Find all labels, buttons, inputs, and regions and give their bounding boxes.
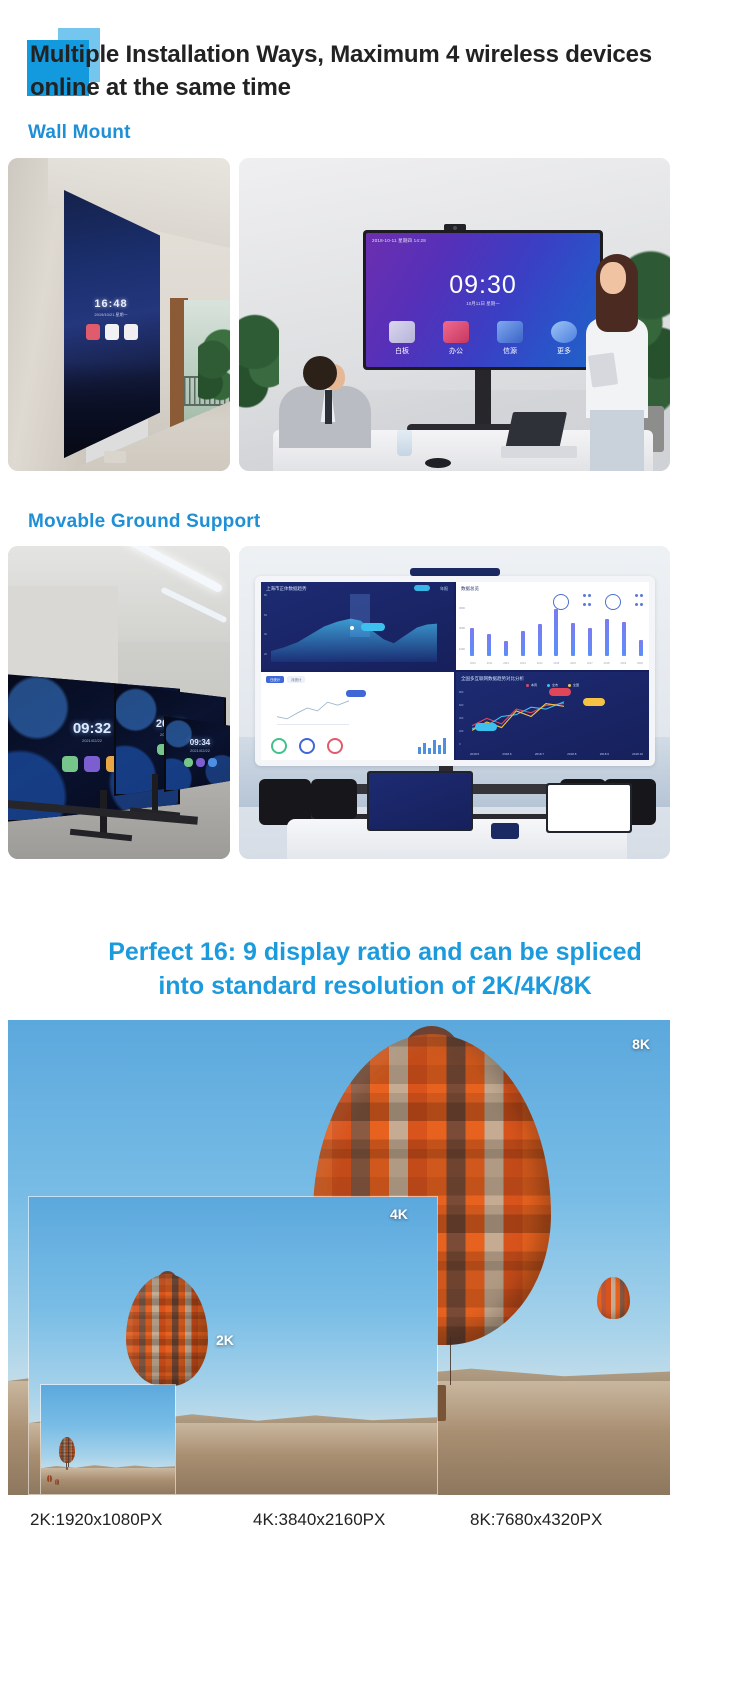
display-app-row xyxy=(164,758,230,767)
bar-series xyxy=(470,601,643,656)
data-tooltip-cyan xyxy=(475,723,497,731)
chart-x-axis: 2010 2011 2012 2013 2014 2015 2016 2017 … xyxy=(470,662,643,665)
axis-tick: 800 xyxy=(459,691,463,694)
seated-person-tie xyxy=(325,390,332,424)
axis-tick: 2018.5 xyxy=(470,752,479,756)
data-tooltip xyxy=(361,623,385,631)
chart-bar-overview: 数据总览 3000 2000 1000 xyxy=(456,582,649,670)
chart-multiline-comparison: 全国多互联网数据趋势对比分析 本周 全市 全国 800 600 400 200 … xyxy=(456,672,649,760)
resolution-label-8k: 8K xyxy=(632,1036,650,1052)
display-app-icon xyxy=(86,324,100,340)
axis-tick: 0 xyxy=(459,743,463,746)
screen-app-more: 更多 xyxy=(549,321,579,356)
axis-tick: 2018.10 xyxy=(632,752,643,756)
axis-tick: 2018.6 xyxy=(502,752,511,756)
promo-page: Multiple Installation Ways, Maximum 4 wi… xyxy=(0,0,750,1694)
line-series xyxy=(277,695,349,725)
app-icon xyxy=(84,756,100,772)
pane-2k-content xyxy=(40,1384,175,1495)
chart-title: 全国多互联网数据趋势对比分析 xyxy=(461,676,524,682)
chart-tab-group[interactable]: 日统计 月统计 xyxy=(266,676,305,683)
axis-tick: 2015 xyxy=(553,662,559,665)
axis-tick: 2000 xyxy=(459,627,465,630)
resolution-comparison-image: 8K xyxy=(8,1020,670,1495)
display-app-icon xyxy=(105,324,119,340)
section-label-movable-ground-support: Movable Ground Support xyxy=(28,511,260,533)
chart-y-axis: 80 60 40 20 xyxy=(264,594,267,656)
dashboard-screen: 上海市正体数据趋势 年报 80 60 40 20 数据 xyxy=(261,582,649,760)
axis-tick: 2020 xyxy=(637,662,643,665)
axis-tick: 2013 xyxy=(520,662,526,665)
app-icon xyxy=(62,756,78,772)
legend-item: 本周 xyxy=(526,683,537,687)
wallpaper-mountain xyxy=(68,398,158,444)
display-date: 2021/02/22 xyxy=(164,748,230,753)
section-label-wall-mount: Wall Mount xyxy=(28,122,131,144)
resolution-label-2k: 2K xyxy=(216,1332,234,1348)
distant-balloon xyxy=(55,1479,59,1485)
chart-line-monthly: 日统计 月统计 xyxy=(261,672,454,760)
axis-tick: 2010 xyxy=(470,662,476,665)
chart-x-axis: 2018.5 2018.6 2018.7 2018.8 2018.9 2018.… xyxy=(470,752,643,756)
ring-gauge-icon xyxy=(299,738,315,754)
whiteboard-icon xyxy=(389,321,415,343)
connected-laptop xyxy=(367,771,473,831)
legend-item: 全国 xyxy=(568,683,579,687)
chart-y-axis: 3000 2000 1000 xyxy=(459,607,465,651)
axis-tick: 20 xyxy=(264,653,267,656)
ring-gauge-icon xyxy=(327,738,343,754)
hallway-wall-plate xyxy=(104,451,126,463)
chart-title: 数据总览 xyxy=(461,586,479,592)
chart-badge-label: 年报 xyxy=(440,586,448,592)
data-tooltip xyxy=(346,690,366,697)
axis-tick: 80 xyxy=(264,594,267,597)
mobile-display-3: 09:34 2021/02/22 xyxy=(164,716,230,792)
data-tooltip-red xyxy=(549,688,571,696)
screen-clock: 09:30 xyxy=(366,271,600,300)
photo-dashboard-conference: 上海市正体数据趋势 年报 80 60 40 20 数据 xyxy=(239,546,670,859)
axis-tick: 2018 xyxy=(604,662,610,665)
app-icon xyxy=(196,758,205,767)
laptop-screen xyxy=(505,412,567,450)
caption-2k: 2K:1920x1080PX xyxy=(30,1510,162,1530)
water-glass xyxy=(397,430,412,456)
axis-tick: 40 xyxy=(264,633,267,636)
axis-tick: 2014 xyxy=(537,662,543,665)
display-stand-pole xyxy=(475,370,491,426)
wallpaper-city-glow xyxy=(98,428,132,438)
axis-tick: 2018.8 xyxy=(567,752,576,756)
display-screen: 2018-10-11 星期四 14:28 09:30 10月11日 星期一 白板… xyxy=(366,233,600,367)
hot-air-balloon-2k xyxy=(59,1437,75,1470)
page-title: Multiple Installation Ways, Maximum 4 wi… xyxy=(30,38,690,104)
screen-app-whiteboard: 白板 xyxy=(387,321,417,356)
area-series xyxy=(271,613,437,662)
resolution-pane-2k xyxy=(40,1384,175,1495)
display-camera-bar xyxy=(410,568,500,576)
tab-monthly[interactable]: 月统计 xyxy=(287,676,305,683)
screen-clock-sub: 10月11日 星期一 xyxy=(366,301,600,307)
chart-toggle-badge xyxy=(414,585,430,591)
office-icon xyxy=(443,321,469,343)
distant-balloon xyxy=(47,1475,52,1482)
balloon-envelope xyxy=(126,1274,208,1386)
standing-person-skirt xyxy=(590,410,644,471)
axis-tick: 200 xyxy=(459,730,463,733)
balloon-basket xyxy=(66,1467,68,1470)
display-app-icon xyxy=(124,324,138,340)
axis-tick: 2018.9 xyxy=(600,752,609,756)
app-icon xyxy=(184,758,193,767)
photo-wall-mount-hallway: 16:48 2019/10/21 星期一 xyxy=(8,158,230,471)
chart-legend: 本周 全市 全国 xyxy=(456,683,649,687)
resolution-heading-line1: Perfect 16: 9 display ratio and can be s… xyxy=(40,935,710,969)
standing-person-tablet xyxy=(588,352,618,387)
ring-gauge-icon xyxy=(271,738,287,754)
display-screen xyxy=(166,718,230,790)
axis-tick: 1000 xyxy=(459,648,465,651)
axis-tick: 2019 xyxy=(620,662,626,665)
laptop-keyboard xyxy=(501,446,577,458)
screen-date: 2018-10-11 星期四 14:28 xyxy=(372,238,426,244)
axis-tick: 2017 xyxy=(587,662,593,665)
photo-wall-mount-meeting-room: 2018-10-11 星期四 14:28 09:30 10月11日 星期一 白板… xyxy=(239,158,670,471)
balloon-envelope xyxy=(59,1437,75,1463)
seated-person-hair xyxy=(303,356,337,390)
app-icon xyxy=(208,758,217,767)
screen-app-row: 白板 办公 信源 更多 xyxy=(366,321,600,356)
resolution-captions: 2K:1920x1080PX 4K:3840x2160PX 8K:7680x43… xyxy=(8,1500,670,1540)
screen-app-label: 白板 xyxy=(387,346,417,356)
kpi-ring-group xyxy=(271,738,343,754)
chart-area-trend: 上海市正体数据趋势 年报 80 60 40 20 xyxy=(261,582,454,670)
meeting-room-plant-left xyxy=(239,306,279,426)
axis-tick: 3000 xyxy=(459,607,465,610)
screen-app-source: 信源 xyxy=(495,321,525,356)
source-icon xyxy=(497,321,523,343)
caption-8k: 8K:7680x4320PX xyxy=(470,1510,602,1530)
axis-tick: 2016 xyxy=(570,662,576,665)
caption-4k: 4K:3840x2160PX xyxy=(253,1510,385,1530)
axis-tick: 2011 xyxy=(487,662,493,665)
standing-person-face xyxy=(600,262,626,294)
axis-tick: 60 xyxy=(264,614,267,617)
screen-app-label: 办公 xyxy=(441,346,471,356)
interactive-flat-panel: 2018-10-11 星期四 14:28 09:30 10月11日 星期一 白板… xyxy=(363,230,603,370)
photo-showroom-displays: 09:32 2021/02/22 20:13 2021/02/22 09:34 … xyxy=(8,546,230,859)
axis-tick: 400 xyxy=(459,717,463,720)
display-app-row xyxy=(70,324,154,340)
data-tooltip-yellow xyxy=(583,698,605,706)
screen-app-label: 信源 xyxy=(495,346,525,356)
ground xyxy=(40,1468,175,1495)
resolution-heading-line2: into standard resolution of 2K/4K/8K xyxy=(40,969,710,1003)
screen-app-label: 更多 xyxy=(549,346,579,356)
connected-laptop xyxy=(546,783,632,833)
chart-y-axis: 800 600 400 200 0 xyxy=(459,691,463,746)
resolution-heading: Perfect 16: 9 display ratio and can be s… xyxy=(40,935,710,1003)
more-icon xyxy=(551,321,577,343)
interactive-flat-panel: 上海市正体数据趋势 年报 80 60 40 20 数据 xyxy=(255,576,655,766)
display-clock: 16:48 xyxy=(66,298,156,310)
resolution-label-4k: 4K xyxy=(390,1206,408,1222)
conference-chair xyxy=(311,779,357,819)
data-point-marker xyxy=(350,626,354,630)
axis-tick: 2012 xyxy=(503,662,509,665)
wireless-dongle xyxy=(425,458,451,468)
connected-phone xyxy=(491,823,519,839)
page-header: Multiple Installation Ways, Maximum 4 wi… xyxy=(0,0,750,115)
display-clock: 09:34 xyxy=(164,738,230,747)
chart-title: 上海市正体数据趋势 xyxy=(266,586,307,592)
screen-app-office: 办公 xyxy=(441,321,471,356)
legend-item: 全市 xyxy=(547,683,558,687)
axis-tick: 600 xyxy=(459,704,463,707)
axis-tick: 2018.7 xyxy=(535,752,544,756)
mini-bar-series xyxy=(418,736,446,754)
display-date: 2019/10/21 星期一 xyxy=(66,312,156,318)
tab-daily[interactable]: 日统计 xyxy=(266,676,284,683)
